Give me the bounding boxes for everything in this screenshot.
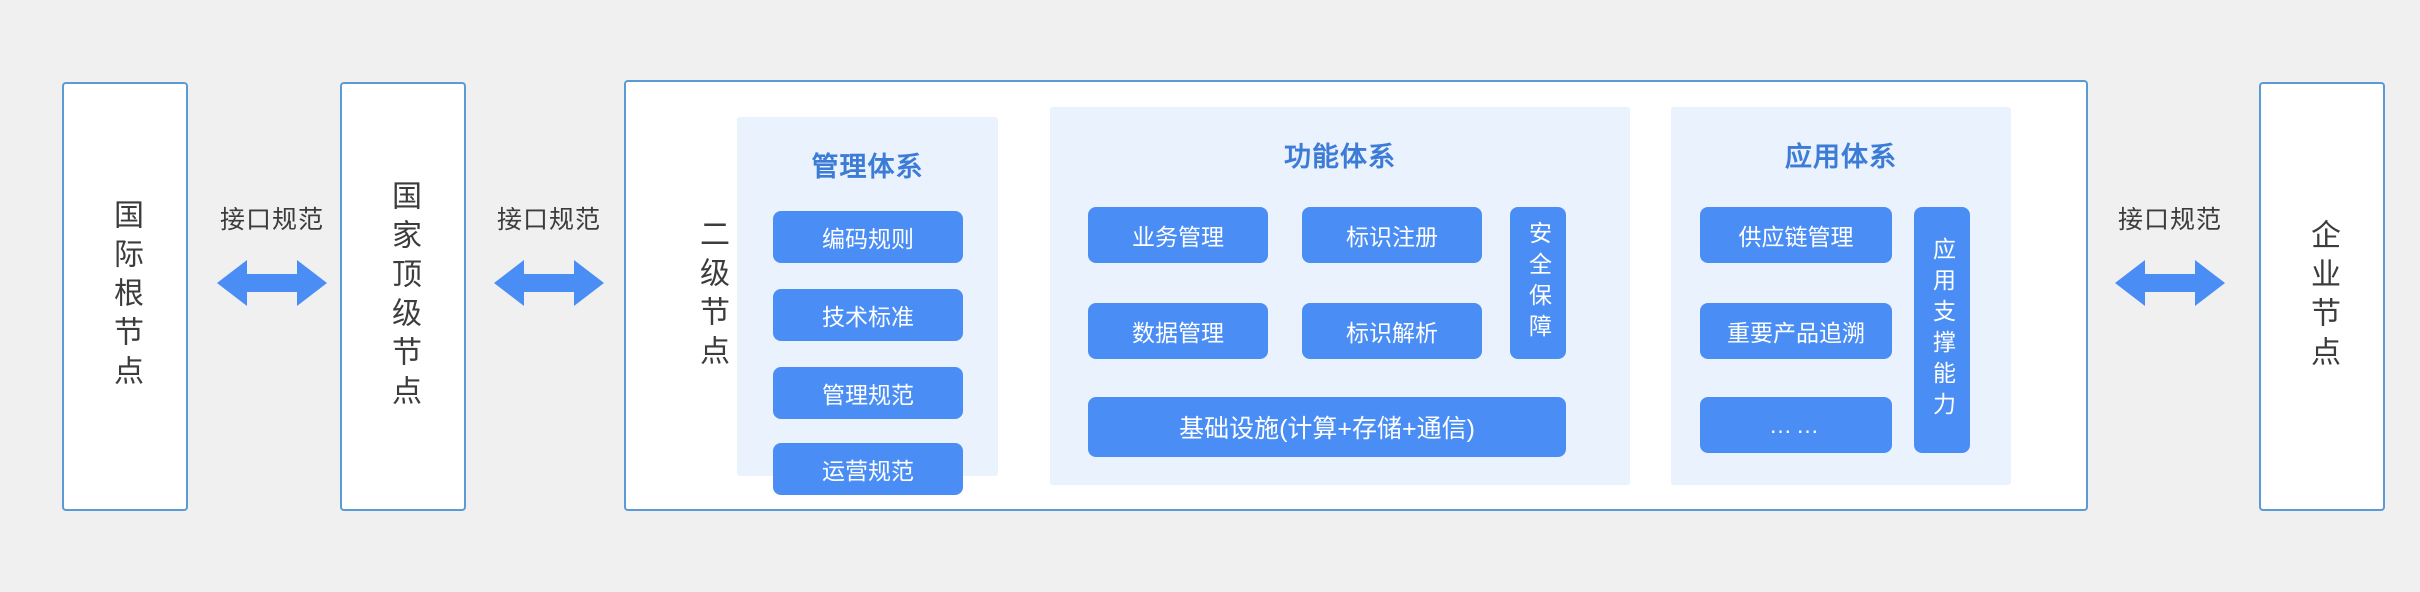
chip-data-management[interactable]: 数据管理	[1088, 303, 1268, 359]
panel-functional-system: 功能体系 业务管理 标识注册 数据管理 标识解析 安全保障 基础设施(计算+存储…	[1050, 107, 1630, 485]
chip-application-support-capability[interactable]: 应用支撑能力	[1914, 207, 1970, 453]
node-second-level-container[interactable]: 二级节点 管理体系 编码规则 技术标准 管理规范 运营规范 功能体系 业务管理 …	[624, 80, 2088, 511]
chip-identifier-registration[interactable]: 标识注册	[1302, 207, 1482, 263]
connector-label-1: 接口规范	[220, 200, 324, 236]
chip-key-product-traceability[interactable]: 重要产品追溯	[1700, 303, 1892, 359]
panel-management-system: 管理体系 编码规则 技术标准 管理规范 运营规范	[737, 117, 998, 476]
panel-application-system: 应用体系 供应链管理 重要产品追溯 …… 应用支撑能力	[1671, 107, 2011, 485]
node-national-top-label: 国家顶级节点	[388, 180, 418, 414]
chip-identifier-resolution[interactable]: 标识解析	[1302, 303, 1482, 359]
chip-coding-rule[interactable]: 编码规则	[773, 211, 963, 263]
connector-root-to-national: 接口规范	[197, 200, 347, 315]
connector-label-2: 接口规范	[497, 200, 601, 236]
chip-supply-chain-management[interactable]: 供应链管理	[1700, 207, 1892, 263]
double-arrow-icon	[217, 256, 327, 315]
panel-functional-title: 功能体系	[1050, 135, 1630, 174]
node-national-top[interactable]: 国家顶级节点	[340, 82, 466, 511]
connector-second-to-enterprise: 接口规范	[2095, 200, 2245, 315]
diagram-canvas: 国际根节点 接口规范 国家顶级节点 接口规范 二级节点 管理体系 编码规则	[0, 0, 2420, 592]
chip-infrastructure[interactable]: 基础设施(计算+存储+通信)	[1088, 397, 1566, 457]
node-enterprise-label: 企业节点	[2307, 219, 2337, 375]
chip-business-management[interactable]: 业务管理	[1088, 207, 1268, 263]
panel-management-title: 管理体系	[737, 145, 998, 184]
connector-label-3: 接口规范	[2118, 200, 2222, 236]
node-second-level-label: 二级节点	[696, 218, 726, 374]
chip-security-assurance[interactable]: 安全保障	[1510, 207, 1566, 359]
chip-technical-standard[interactable]: 技术标准	[773, 289, 963, 341]
node-international-root-label: 国际根节点	[110, 199, 140, 394]
panel-application-title: 应用体系	[1671, 135, 2011, 174]
double-arrow-icon	[2115, 256, 2225, 315]
chip-more-applications[interactable]: ……	[1700, 397, 1892, 453]
node-enterprise[interactable]: 企业节点	[2259, 82, 2385, 511]
chip-operation-spec[interactable]: 运营规范	[773, 443, 963, 495]
chip-management-spec[interactable]: 管理规范	[773, 367, 963, 419]
node-international-root[interactable]: 国际根节点	[62, 82, 188, 511]
connector-national-to-second: 接口规范	[474, 200, 624, 315]
double-arrow-icon	[494, 256, 604, 315]
